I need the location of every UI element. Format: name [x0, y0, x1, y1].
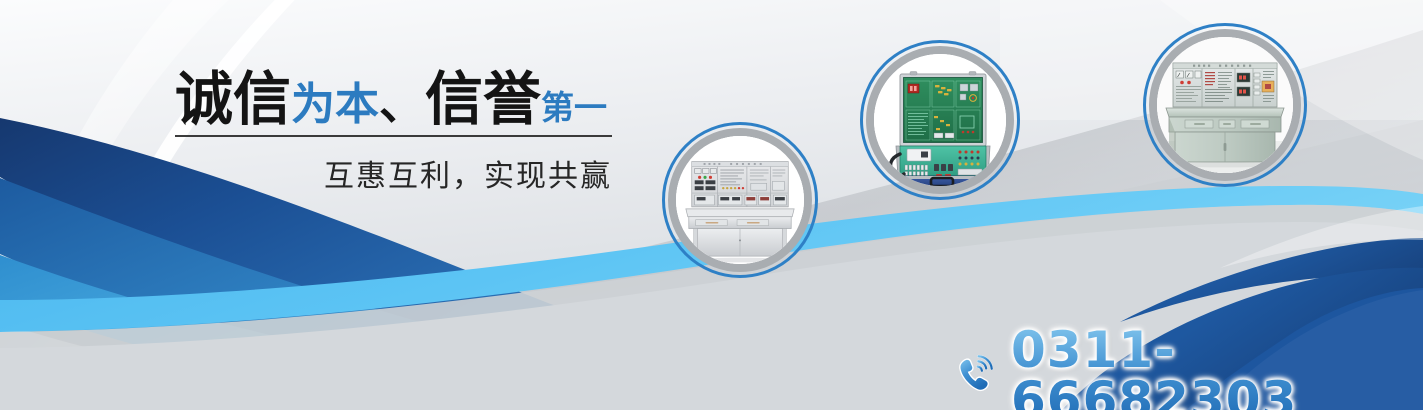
headline: 诚信为本、信誉第一 — [175, 70, 625, 128]
product-photo-test-bench — [1157, 37, 1293, 173]
headline-part-1: 诚信 — [175, 65, 291, 133]
headline-part-4: 第一 — [541, 88, 607, 127]
headline-part-3: 信誉 — [425, 65, 541, 133]
product-photo-workbench — [676, 136, 804, 264]
subtitle: 互惠互利，实现共赢 — [175, 151, 612, 195]
promotional-banner: 诚信为本、信誉第一 互惠互利，实现共赢 — [0, 0, 1423, 410]
headline-part-2: 为本 — [291, 79, 379, 130]
phone-number[interactable]: 0311-66682303 — [1011, 325, 1423, 410]
product-photo-training-case — [874, 54, 1006, 186]
slogan-block: 诚信为本、信誉第一 互惠互利，实现共赢 — [175, 70, 625, 195]
contact-phone[interactable]: 0311-66682303 — [955, 325, 1423, 410]
headline-divider — [175, 135, 612, 137]
product-circle-3[interactable] — [1143, 23, 1307, 187]
headline-separator: 、 — [379, 77, 425, 129]
product-circle-2[interactable] — [860, 40, 1020, 200]
phone-with-signal-waves-icon — [955, 352, 997, 398]
product-circle-1[interactable] — [662, 122, 818, 278]
